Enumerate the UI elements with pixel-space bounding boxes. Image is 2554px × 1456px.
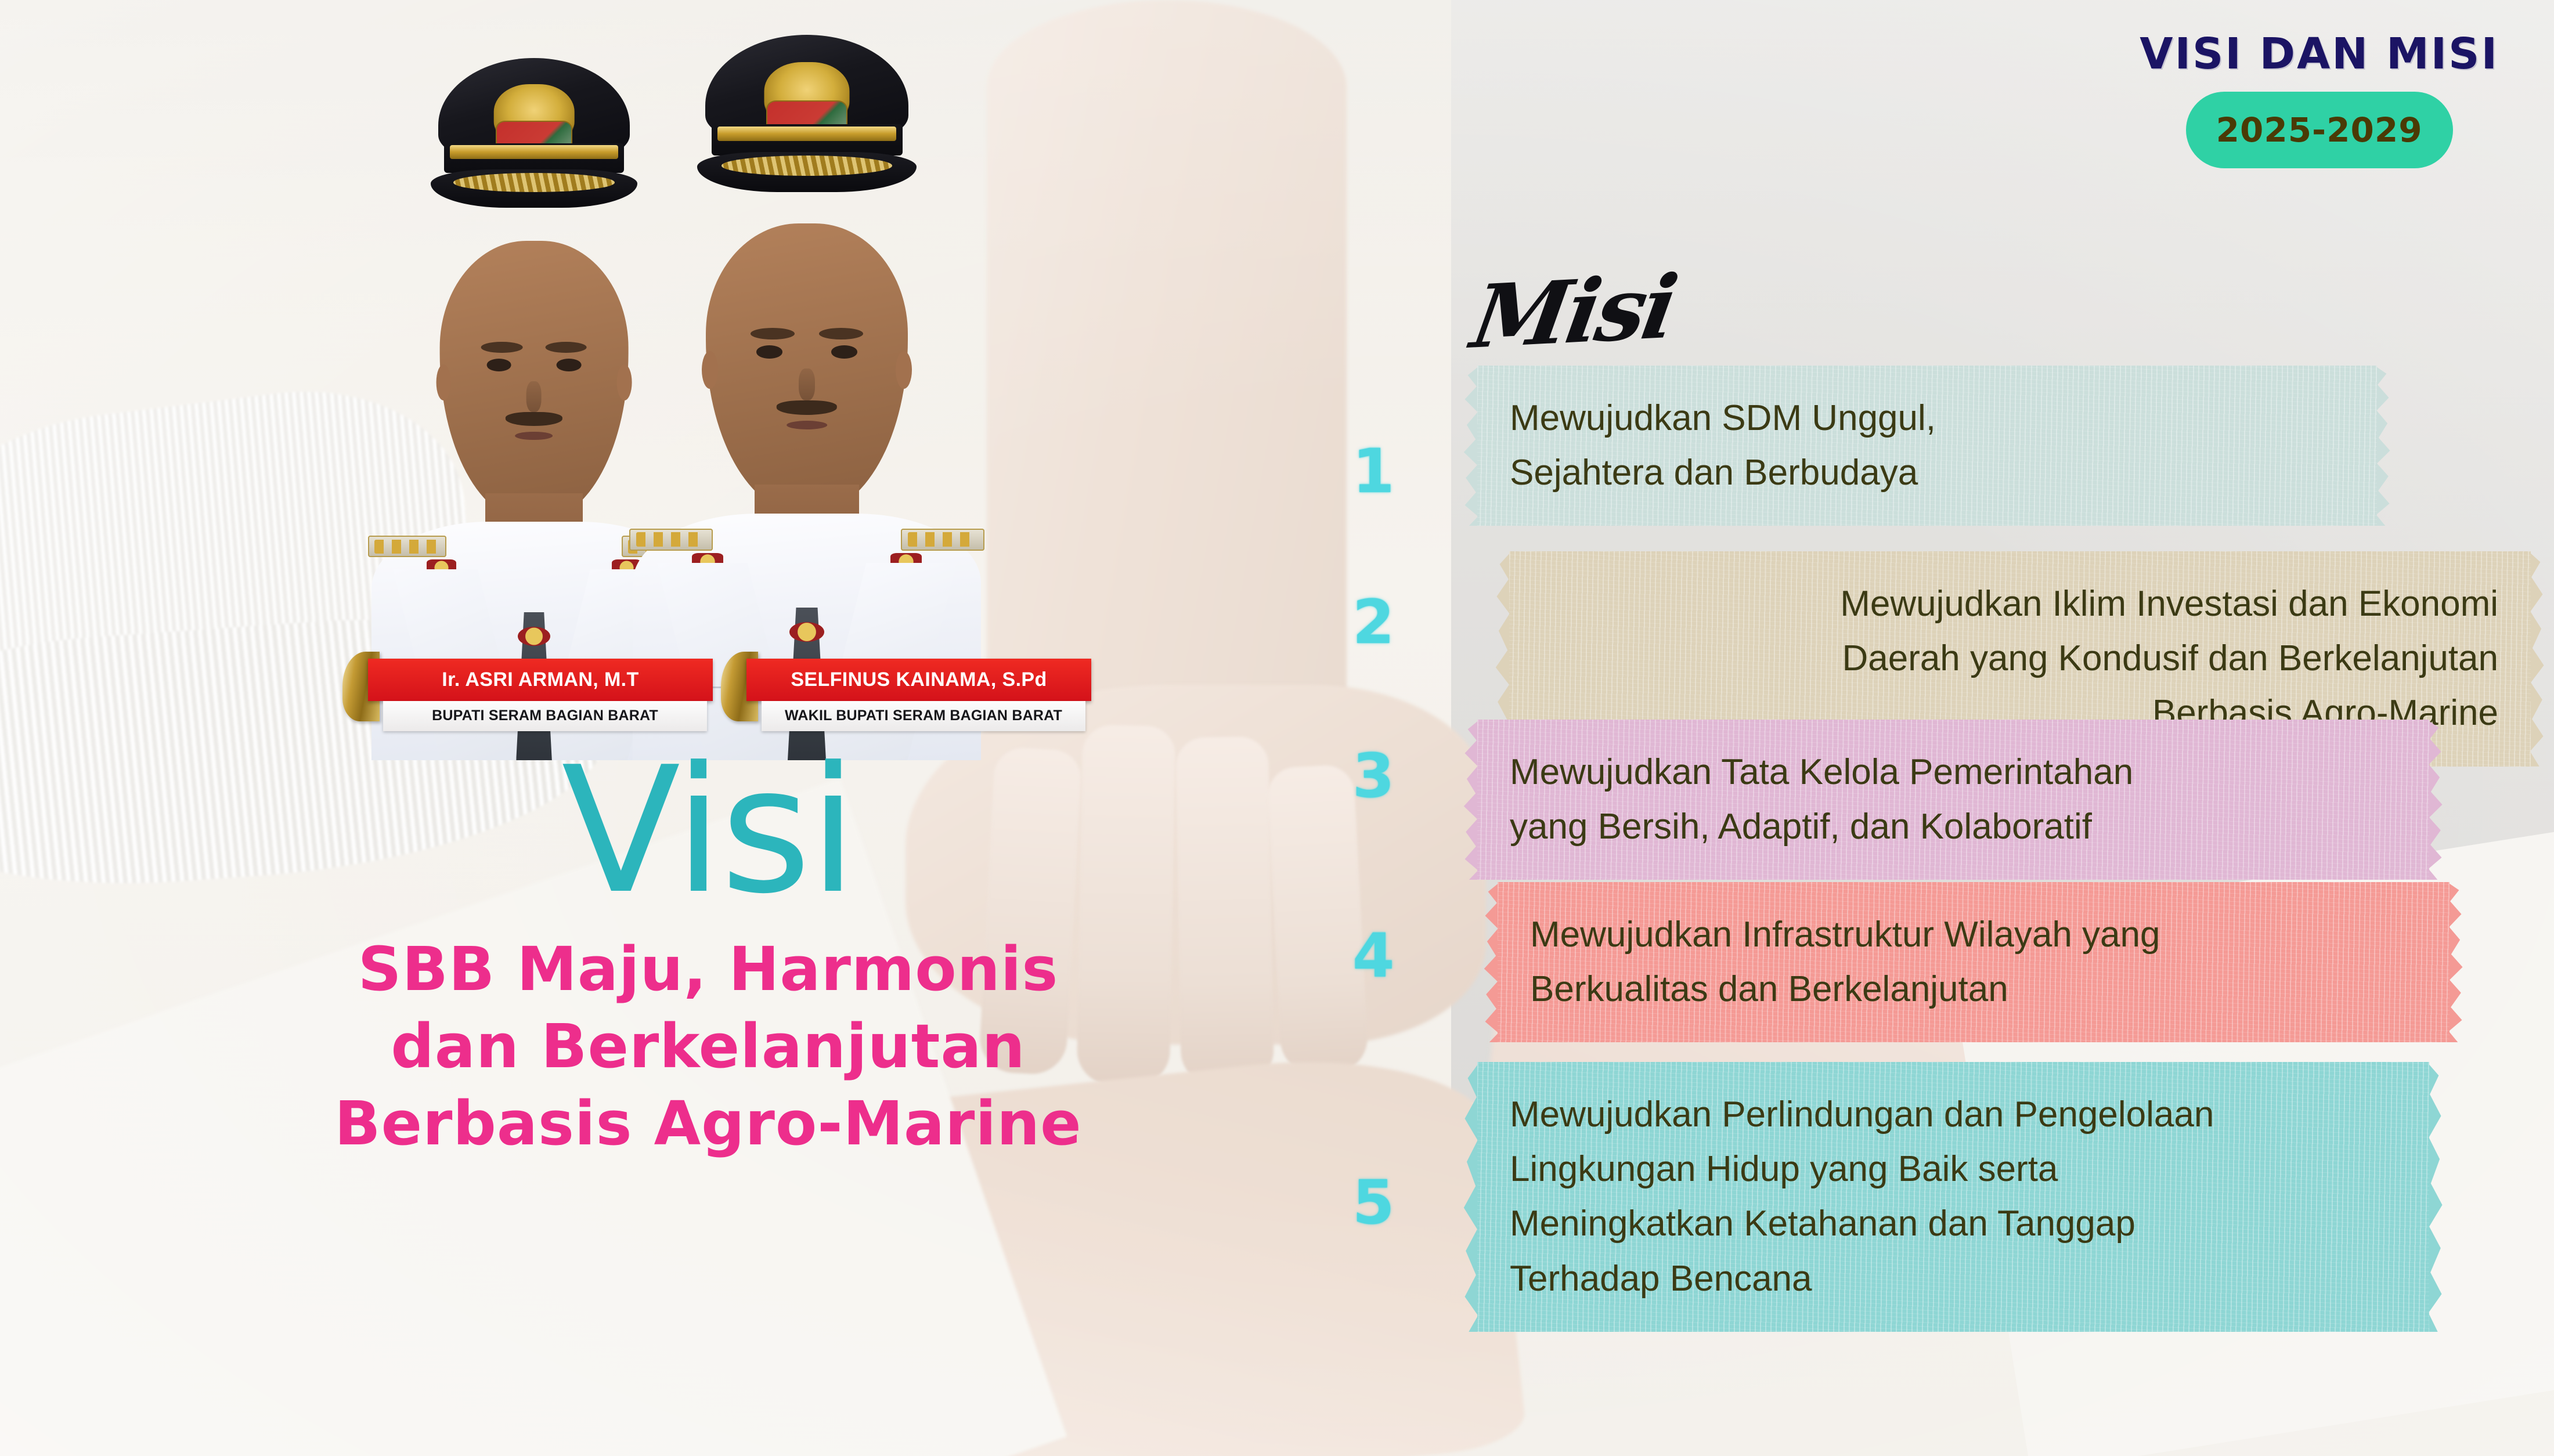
mission-heading: Misi <box>1465 256 1681 368</box>
name-plates: Ir. ASRI ARMAN, M.T BUPATI SERAM BAGIAN … <box>342 659 1091 734</box>
mission-line: Sejahtera dan Berbudaya <box>1510 446 2344 500</box>
mission-number: 2 <box>1352 592 1394 652</box>
mission-number: 3 <box>1352 746 1394 806</box>
official-role: BUPATI SERAM BAGIAN BARAT <box>383 701 707 731</box>
vision-statement: SBB Maju, Harmonis dan Berkelanjutan Ber… <box>209 931 1207 1162</box>
mission-line: Mewujudkan Iklim Investasi dan Ekonomi <box>1840 577 2498 631</box>
mission-line: Lingkungan Hidup yang Baik serta <box>1510 1142 2397 1197</box>
mission-number: 1 <box>1352 441 1394 501</box>
vision-line: SBB Maju, Harmonis <box>209 931 1207 1008</box>
mission-brush-stroke: Mewujudkan Infrastruktur Wilayah yang Be… <box>1498 882 2450 1042</box>
ceremonial-cap-icon <box>705 35 908 218</box>
year-badge: 2025-2029 <box>2186 92 2453 168</box>
official-photo-wakil-bupati <box>633 35 981 760</box>
header: VISI DAN MISI 2025-2029 <box>2140 29 2499 168</box>
vision-section: Visi SBB Maju, Harmonis dan Berkelanjuta… <box>209 754 1207 1162</box>
official-name: Ir. ASRI ARMAN, M.T <box>368 659 713 701</box>
mission-line: Daerah yang Kondusif dan Berkelanjutan <box>1842 631 2498 686</box>
page-title: VISI DAN MISI <box>2140 29 2499 79</box>
ceremonial-cap-icon <box>438 58 630 232</box>
mission-number: 5 <box>1352 1172 1394 1233</box>
mission-line: Berkualitas dan Berkelanjutan <box>1530 962 2417 1017</box>
mission-line: Mewujudkan Infrastruktur Wilayah yang <box>1530 908 2417 962</box>
mission-line: Mewujudkan Tata Kelola Pemerintahan <box>1510 745 2397 800</box>
mission-line: Mewujudkan Perlindungan dan Pengelolaan <box>1510 1088 2397 1142</box>
officials-photo <box>325 6 1091 760</box>
mission-line: Mewujudkan SDM Unggul, <box>1510 391 2344 446</box>
mission-brush-stroke: Mewujudkan Tata Kelola Pemerintahan yang… <box>1477 720 2429 880</box>
face <box>706 223 908 514</box>
mission-line: Meningkatkan Ketahanan dan Tanggap <box>1510 1197 2397 1251</box>
vision-heading: Visi <box>209 754 1207 908</box>
vision-line: Berbasis Agro-Marine <box>209 1085 1207 1162</box>
mission-line: yang Bersih, Adaptif, dan Kolaboratif <box>1510 800 2397 854</box>
face <box>440 241 629 522</box>
official-name: SELFINUS KAINAMA, S.Pd <box>746 659 1091 701</box>
vision-line: dan Berkelanjutan <box>209 1008 1207 1085</box>
mission-line: Terhadap Bencana <box>1510 1252 2397 1306</box>
name-plate-wakil-bupati: SELFINUS KAINAMA, S.Pd WAKIL BUPATI SERA… <box>721 659 1091 734</box>
mission-brush-stroke: Mewujudkan SDM Unggul, Sejahtera dan Ber… <box>1477 366 2377 526</box>
name-plate-bupati: Ir. ASRI ARMAN, M.T BUPATI SERAM BAGIAN … <box>342 659 713 734</box>
mission-number: 4 <box>1352 926 1394 986</box>
official-role: WAKIL BUPATI SERAM BAGIAN BARAT <box>762 701 1085 731</box>
mission-brush-stroke: Mewujudkan Perlindungan dan Pengelolaan … <box>1477 1062 2429 1332</box>
